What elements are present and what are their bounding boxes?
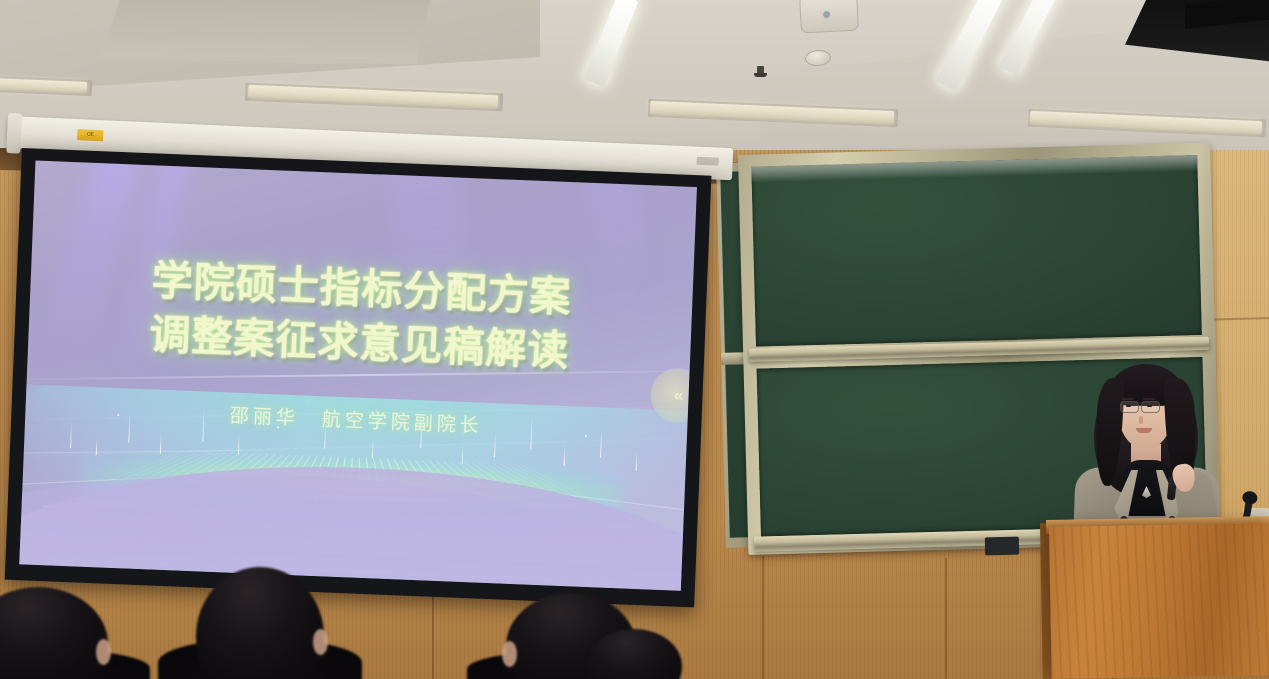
audience-head — [196, 567, 324, 679]
presenter-eye — [1126, 405, 1131, 407]
slide-text-block: 学院硕士指标分配方案 调整案征求意见稿解读 邵丽华 航空学院副院长 — [19, 161, 697, 591]
presenter-glasses-bridge — [1137, 405, 1141, 406]
chalkboard-support-foot — [985, 537, 1019, 556]
slide-subtitle: 邵丽华 航空学院副院长 — [25, 392, 688, 446]
wall-panel-seam-3 — [945, 558, 947, 679]
projector-screen-housing-endcap — [6, 113, 22, 154]
speaker-indicator-icon — [823, 11, 830, 18]
ceiling-speaker — [799, 0, 859, 33]
audience-head — [586, 629, 682, 679]
housing-brand-label: CE — [77, 129, 103, 141]
audience-ear — [313, 629, 328, 655]
podium — [1049, 523, 1269, 679]
presenter-nose — [1139, 416, 1143, 424]
wall-panel-seam-2 — [762, 556, 764, 679]
presenter-mouth — [1136, 428, 1152, 433]
slide-title: 学院硕士指标分配方案 调整案征求意见稿解读 — [28, 248, 694, 383]
presenter-eye — [1147, 405, 1152, 407]
audience-ear — [502, 641, 517, 667]
audience-head-silhouette — [196, 567, 324, 679]
chevron-double-left-icon: « — [673, 385, 681, 405]
projected-slide: 学院硕士指标分配方案 调整案征求意见稿解读 邵丽华 航空学院副院长 « — [19, 161, 697, 591]
audience-head — [0, 587, 108, 679]
housing-secondary-label — [697, 157, 719, 166]
ceiling-soffit-left-inner — [100, 0, 430, 64]
lecture-hall-screenshot: CE — [0, 0, 1269, 679]
sprinkler-head — [757, 66, 764, 74]
audience-head-silhouette — [0, 587, 108, 679]
presenter-glasses-lens — [1141, 401, 1160, 413]
audience-head-silhouette — [586, 629, 682, 679]
audience-ear — [96, 639, 111, 665]
projector-screen-frame: 学院硕士指标分配方案 调整案征求意见稿解读 邵丽华 航空学院副院长 « — [5, 148, 712, 607]
chalkboard-upper-panel — [751, 155, 1202, 347]
presenter-glasses-lens — [1120, 401, 1139, 413]
